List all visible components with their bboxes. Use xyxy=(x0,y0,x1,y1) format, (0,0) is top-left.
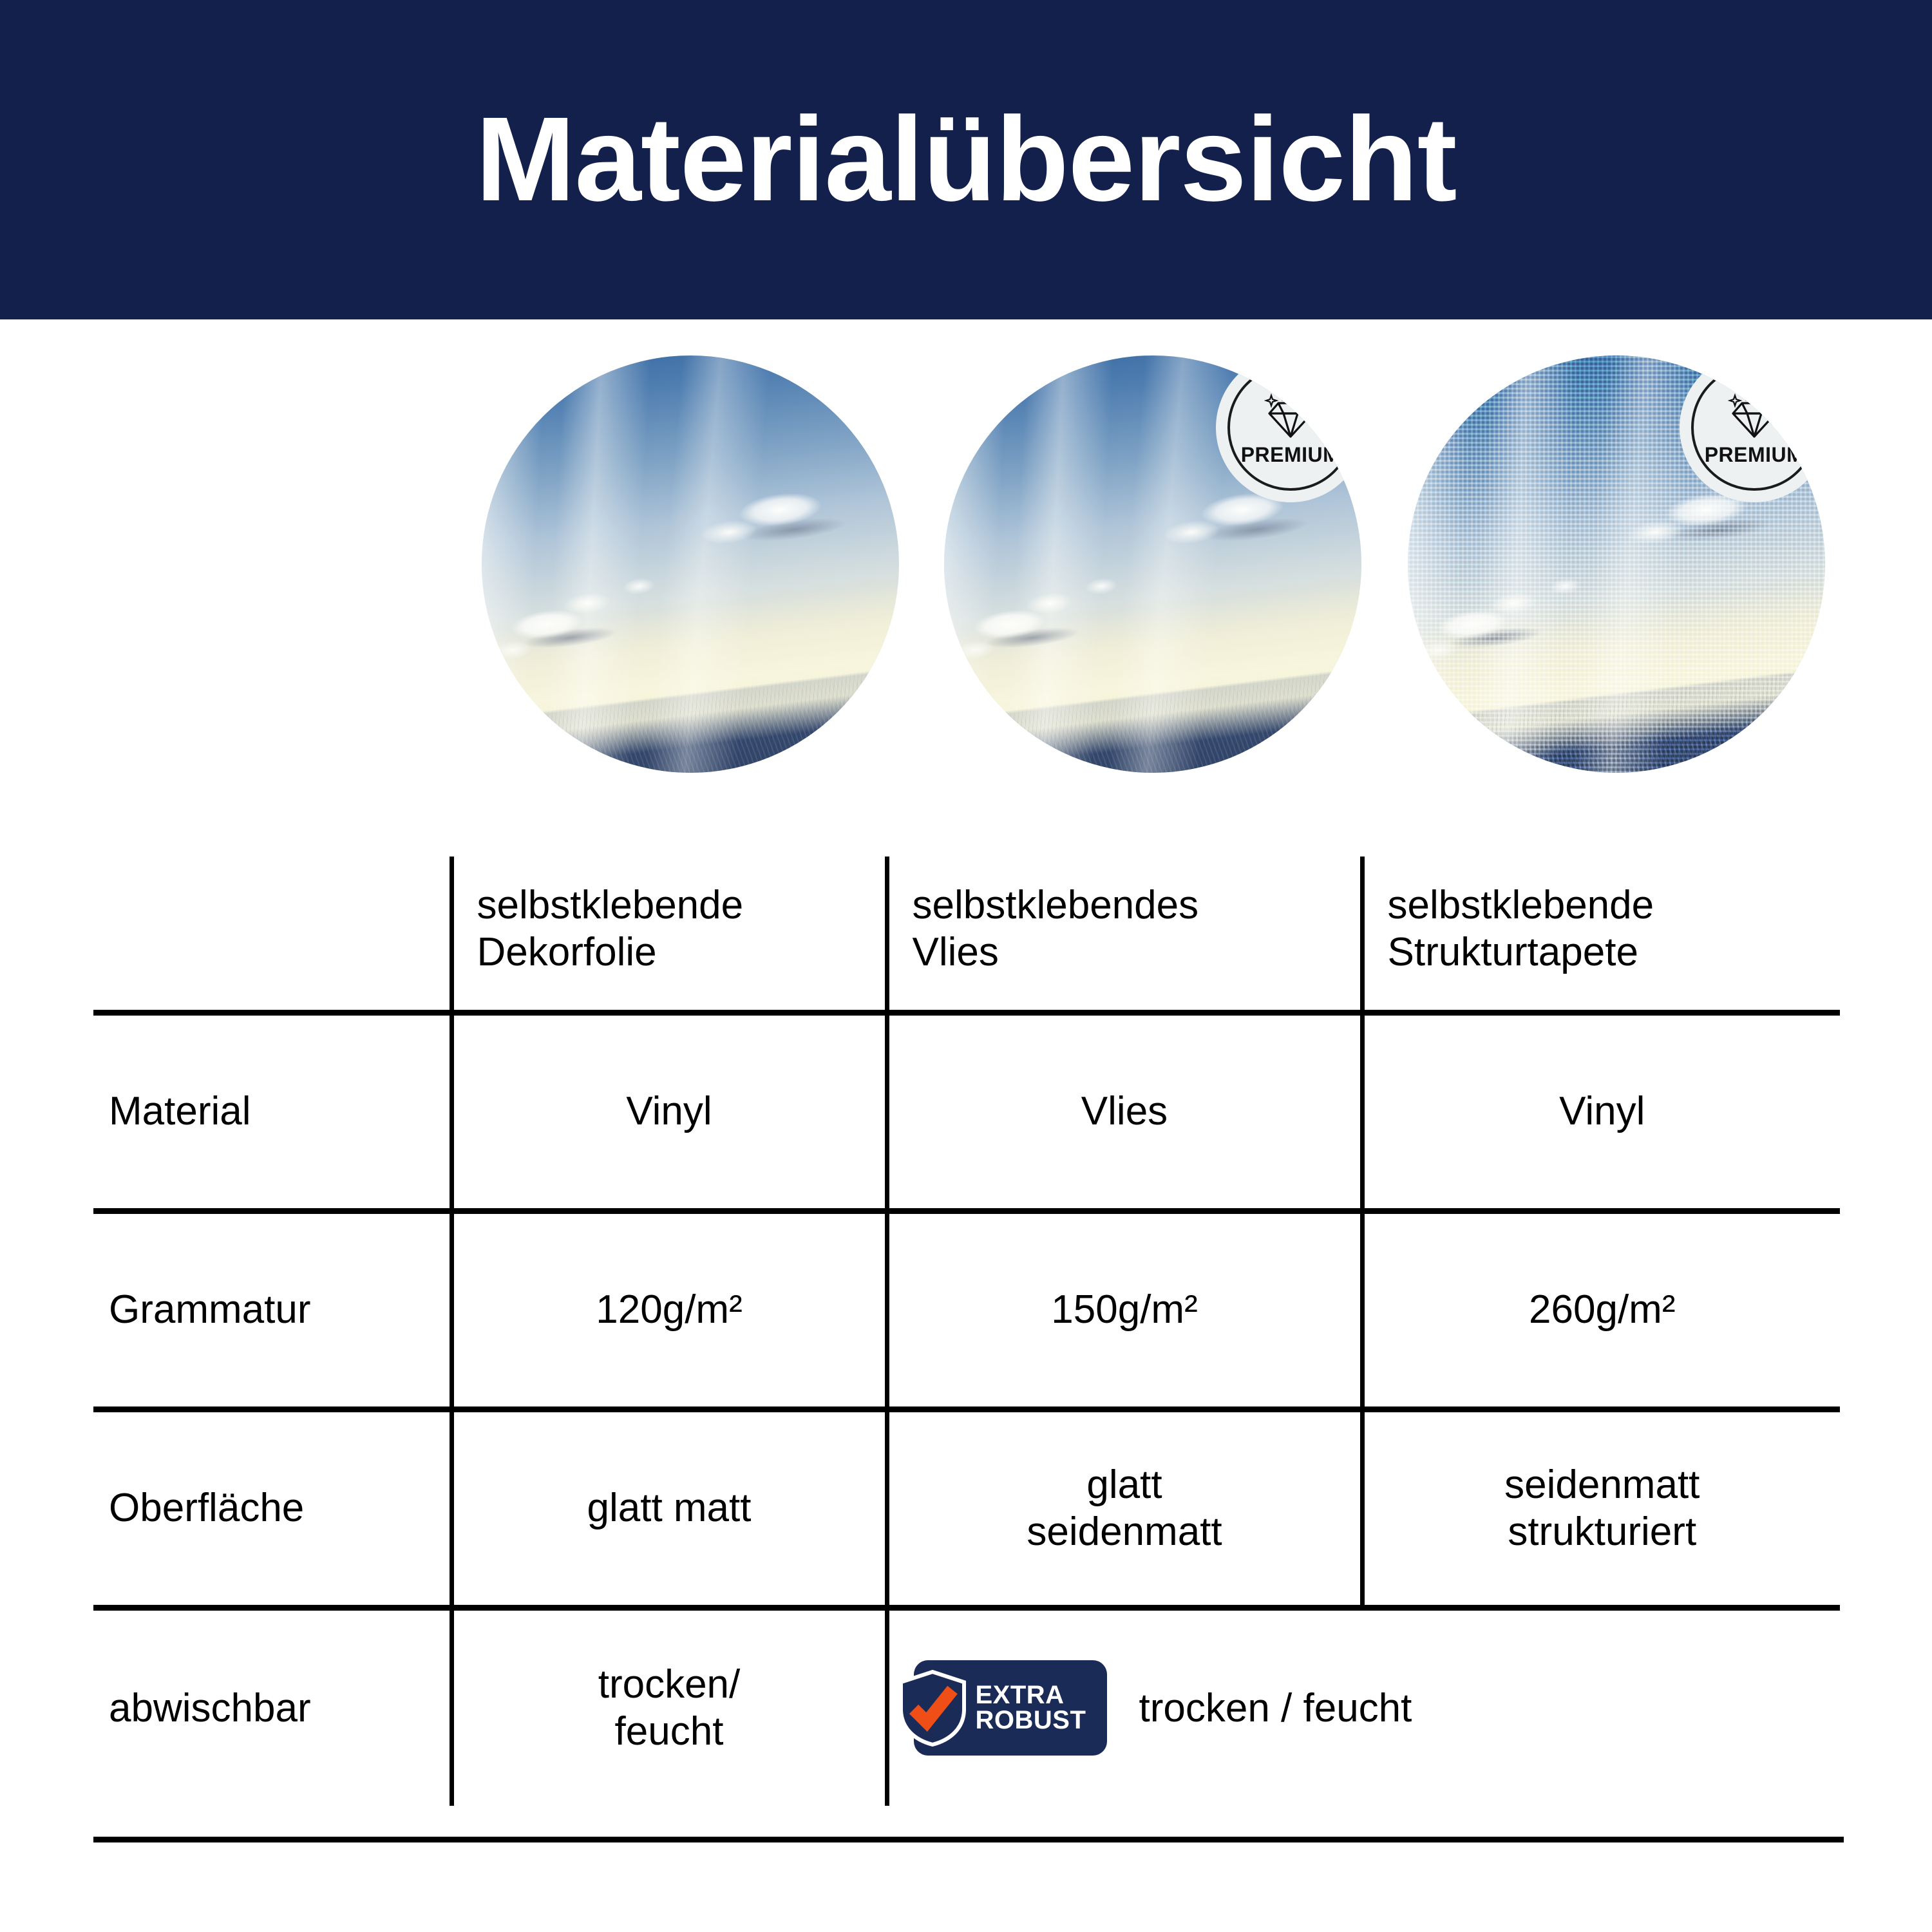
header-vlies-line2: Vlies xyxy=(913,929,1354,976)
premium-label: PREMIUM xyxy=(1705,444,1804,465)
dekorfolie-swatch[interactable] xyxy=(482,355,899,773)
cell-abwischbar-dekorfolie-line2: feucht xyxy=(460,1708,878,1755)
header-dekorfolie-line1: selbstklebende xyxy=(477,882,878,929)
header-dekorfolie: selbstklebende Dekorfolie xyxy=(451,857,887,1012)
row-label-oberflaeche: Oberfläche xyxy=(93,1409,451,1607)
header-vlies: selbstklebendes Vlies xyxy=(887,857,1362,1012)
sea-texture-overlay xyxy=(482,355,899,773)
cell-grammatur-strukturtapete: 260g/m² xyxy=(1362,1211,1840,1409)
cell-oberflaeche-dekorfolie: glatt matt xyxy=(451,1409,887,1607)
cell-oberflaeche-vlies-line2: seidenmatt xyxy=(896,1508,1354,1555)
table-header-row: selbstklebende Dekorfolie selbstklebende… xyxy=(93,857,1840,1012)
header-strukturtapete: selbstklebende Strukturtapete xyxy=(1362,857,1840,1012)
table-row-grammatur: Grammatur 120g/m² 150g/m² 260g/m² xyxy=(93,1211,1840,1409)
table-row-abwischbar: abwischbar trocken/ feucht xyxy=(93,1607,1840,1806)
header-empty-cell xyxy=(93,857,451,1012)
page-header: Materialübersicht xyxy=(0,0,1932,319)
cell-oberflaeche-strukturtapete-line2: strukturiert xyxy=(1371,1508,1834,1555)
diamond-icon xyxy=(1264,393,1317,439)
shield-check-icon xyxy=(897,1669,968,1747)
extra-robust-line1: EXTRA xyxy=(976,1683,1086,1708)
cell-abwischbar-vlies-strukturtapete: EXTRA ROBUST trocken / feucht xyxy=(887,1607,1840,1806)
cell-abwischbar-value: trocken / feucht xyxy=(1139,1685,1412,1732)
row-label-grammatur: Grammatur xyxy=(93,1211,451,1409)
vlies-swatch[interactable]: PREMIUM xyxy=(944,355,1361,773)
cell-grammatur-dekorfolie: 120g/m² xyxy=(451,1211,887,1409)
header-strukturtapete-line2: Strukturtapete xyxy=(1388,929,1834,976)
material-overview-page: Materialübersicht xyxy=(0,0,1932,1932)
cell-oberflaeche-vlies-line1: glatt xyxy=(896,1461,1354,1508)
premium-badge: PREMIUM xyxy=(1216,355,1361,502)
header-vlies-line1: selbstklebendes xyxy=(913,882,1354,929)
cell-oberflaeche-vlies: glatt seidenmatt xyxy=(887,1409,1362,1607)
cell-abwischbar-dekorfolie-line1: trocken/ xyxy=(460,1661,878,1708)
table-row-material: Material Vinyl Vlies Vinyl xyxy=(93,1012,1840,1211)
table-row-oberflaeche: Oberfläche glatt matt glatt seidenmatt s… xyxy=(93,1409,1840,1607)
swatch-row: PREMIUM xyxy=(0,355,1932,781)
extra-robust-badge: EXTRA ROBUST xyxy=(914,1660,1107,1756)
row-label-abwischbar: abwischbar xyxy=(93,1607,451,1806)
strukturtapete-swatch[interactable]: PREMIUM xyxy=(1408,355,1825,773)
premium-badge: PREMIUM xyxy=(1680,355,1825,502)
header-dekorfolie-line2: Dekorfolie xyxy=(477,929,878,976)
table-bottom-rule xyxy=(93,1837,1844,1842)
row-label-material: Material xyxy=(93,1012,451,1211)
cell-oberflaeche-strukturtapete-line1: seidenmatt xyxy=(1371,1461,1834,1508)
cell-material-dekorfolie: Vinyl xyxy=(451,1012,887,1211)
diamond-icon xyxy=(1728,393,1781,439)
premium-label: PREMIUM xyxy=(1241,444,1341,465)
cell-abwischbar-dekorfolie: trocken/ feucht xyxy=(451,1607,887,1806)
cell-oberflaeche-strukturtapete: seidenmatt strukturiert xyxy=(1362,1409,1840,1607)
cell-material-vlies: Vlies xyxy=(887,1012,1362,1211)
extra-robust-line2: ROBUST xyxy=(976,1708,1086,1733)
cell-material-strukturtapete: Vinyl xyxy=(1362,1012,1840,1211)
cell-grammatur-vlies: 150g/m² xyxy=(887,1211,1362,1409)
material-comparison-table: selbstklebende Dekorfolie selbstklebende… xyxy=(93,857,1840,1806)
header-strukturtapete-line1: selbstklebende xyxy=(1388,882,1834,929)
page-title: Materialübersicht xyxy=(475,100,1456,220)
